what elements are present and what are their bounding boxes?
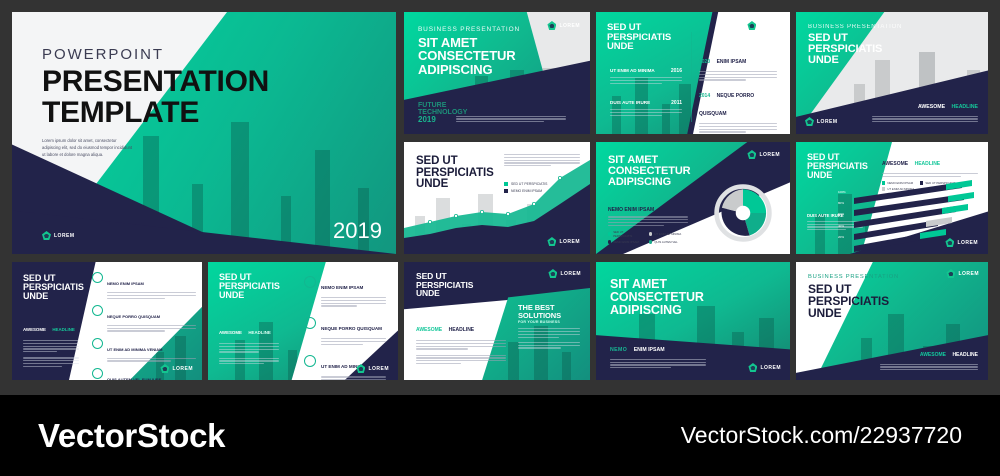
s6-title-3: ADIPISCING <box>608 177 691 188</box>
s6-logo-label: LOREM <box>759 152 780 158</box>
s4-footer-b: HEADLINE <box>951 104 978 110</box>
timeline-item-left-0[interactable]: UT ENIM AD MINIMA 2016 <box>610 68 682 85</box>
s4-eyebrow: BUSINESS PRESENTATION <box>808 24 902 30</box>
hero-body: Lorem ipsum dolor sit amet, consectetur … <box>42 137 134 158</box>
legend-label-3: QUIS AUTEM VEL <box>654 240 677 244</box>
s7-bar-labels: 100% 80% 60% 40% 20% <box>838 190 846 239</box>
pentagon-logo-icon <box>547 237 556 246</box>
legend-swatch-icon <box>608 240 611 243</box>
s12-logo[interactable]: LOREM <box>946 269 979 278</box>
s4-footer: AWESOME HEADLINE <box>872 95 978 124</box>
pentagon-logo-icon <box>946 269 955 278</box>
hero-year: 2019 <box>333 218 382 244</box>
s8-item-label-3: QUIS AUTEM VEL EUM IURE <box>107 377 161 380</box>
slide-hero[interactable]: POWERPOINT PRESENTATION TEMPLATE Lorem i… <box>12 12 396 254</box>
s10-panel: THE BEST SOLUTIONS FOR YOUR BUSINESS <box>518 304 580 350</box>
pentagon-logo-icon <box>747 150 756 159</box>
s6-logo[interactable]: LOREM <box>747 150 780 159</box>
s12-text: BUSINESS PRESENTATION SED UT PERSPICIATI… <box>808 274 899 320</box>
s5-logo[interactable]: LOREM <box>547 237 580 246</box>
pentagon-logo-icon <box>547 21 556 30</box>
s11-title: SIT AMET CONSECTETUR ADIPISCING <box>610 278 704 316</box>
slide-timeline[interactable]: SED UT PERSPICIATIS UNDE UT ENIM AD MINI… <box>596 12 790 134</box>
s12-footer: AWESOME HEADLINE <box>880 343 978 372</box>
s9-headline-b: HEADLINE <box>248 330 270 335</box>
timeline-left-1-year: 2011 <box>671 100 682 106</box>
s8-title-3: UNDE <box>23 292 84 301</box>
s4-footer-a: AWESOME <box>918 104 945 110</box>
watermark-footer: VectorStock VectorStock.com/22937720 <box>0 395 1000 476</box>
s5-legend: SED UT PERSPICIATIS NEMO ENIM IPSAM <box>504 182 580 193</box>
legend-label-1: UT ENIM AD MINIMA <box>654 232 681 236</box>
s11-title-2: CONSECTETUR <box>610 291 704 304</box>
hero-title-line2: TEMPLATE <box>42 98 282 129</box>
s2-eyebrow: BUSINESS PRESENTATION <box>418 26 520 33</box>
s10-panel-sub: FOR YOUR BUSINESS <box>518 320 580 324</box>
slide-best-solutions[interactable]: SED UT PERSPICIATIS UNDE AWESOME HEADLIN… <box>404 262 590 380</box>
hero-eyebrow: POWERPOINT <box>42 46 282 63</box>
slide-area-chart[interactable]: SED UT PERSPICIATIS UNDE SED UT PERSPICI… <box>404 142 590 254</box>
s12-footer-b: HEADLINE <box>952 352 978 358</box>
slide-board: POWERPOINT PRESENTATION TEMPLATE Lorem i… <box>0 0 1000 395</box>
slide-bar-chart[interactable]: SED UT PERSPICIATIS UNDE DUIS AUTE IRURE… <box>796 142 988 254</box>
s11-logo-label: LOREM <box>760 365 781 371</box>
timeline-right-0-year: 2020 <box>699 59 710 65</box>
legend-label-0: SED UT PERSPICIATIS <box>613 230 643 238</box>
s9-headline-block: AWESOME HEADLINE <box>219 321 279 366</box>
slide-business-presentation-1[interactable]: BUSINESS PRESENTATION SIT AMET CONSECTET… <box>404 12 590 134</box>
s2-footer-body <box>456 116 566 124</box>
s9-item-label-0: NEMO ENIM IPSAM <box>321 285 363 290</box>
s5-title-1: SED UT <box>416 156 494 168</box>
bar-label-2: 60% <box>838 212 846 216</box>
hero-logo-label: LOREM <box>54 233 75 239</box>
circle-icon <box>304 317 316 329</box>
legend-item-0: SED UT PERSPICIATIS <box>608 230 643 238</box>
s11-logo[interactable]: LOREM <box>748 363 781 372</box>
s9-logo-label: LOREM <box>368 366 389 372</box>
list-item[interactable]: NEQUE PORRO QUISQUAM <box>304 317 386 346</box>
s6-title: SIT AMET CONSECTETUR ADIPISCING <box>608 155 691 189</box>
timeline-axis <box>691 32 692 122</box>
s10-title-3: UNDE <box>416 289 473 298</box>
s10-logo[interactable]: LOREM <box>548 269 581 278</box>
s9-logo[interactable]: LOREM <box>356 364 389 373</box>
s3-title: SED UT PERSPICIATIS UNDE <box>607 23 671 52</box>
s11-footer: NEMO ENIM IPSAM <box>610 338 706 370</box>
bar-label-0: 100% <box>838 190 846 194</box>
s11-footer-b: ENIM IPSAM <box>634 347 665 353</box>
pentagon-logo-icon <box>548 269 557 278</box>
timeline-left-1-label: DUIS AUTE IRURE <box>610 100 650 105</box>
slide-dark-list[interactable]: SED UT PERSPICIATIS UNDE AWESOME HEADLIN… <box>12 262 202 380</box>
bar-label-4: 20% <box>838 235 846 239</box>
legend-item-1: UT ENIM AD MINIMA <box>649 230 684 238</box>
s12-logo-label: LOREM <box>958 271 979 277</box>
hero-logo[interactable]: LOREM <box>42 231 75 240</box>
legend-item-1: NEMO ENIM IPSAM <box>504 189 580 193</box>
s9-headline-a: AWESOME <box>219 330 242 335</box>
pentagon-logo-icon <box>160 364 169 373</box>
slide-sit-amet-green[interactable]: SIT AMET CONSECTETUR ADIPISCING NEMO ENI… <box>596 262 790 380</box>
s5-logo-label: LOREM <box>559 239 580 245</box>
s10-body: AWESOME HEADLINE <box>416 318 506 366</box>
s3-logo-label: LOREM <box>759 23 780 29</box>
check-circle-icon <box>92 305 103 316</box>
s8-headline-b: HEADLINE <box>52 327 74 332</box>
s7-logo[interactable]: LOREM <box>945 238 978 247</box>
s6-legend: SED UT PERSPICIATIS UT ENIM AD MINIMA NE… <box>608 230 688 244</box>
s10-headline-b: HEADLINE <box>449 327 475 333</box>
s6-pie <box>710 180 776 246</box>
check-circle-icon <box>92 272 103 283</box>
s8-item-label-1: NEQUE PORRO QUISQUAM <box>107 314 160 319</box>
s12-footer-a: AWESOME <box>920 352 946 358</box>
s5-title: SED UT PERSPICIATIS UNDE <box>416 156 494 191</box>
s12-eyebrow: BUSINESS PRESENTATION <box>808 274 899 280</box>
s10-logo-label: LOREM <box>560 271 581 277</box>
legend-label-2: NEMO ENIM IPSAM <box>613 240 639 244</box>
vectorstock-brand: VectorStock <box>38 417 225 455</box>
s2-title-1: SIT AMET <box>418 36 520 49</box>
slide-three-item-list[interactable]: SED UT PERSPICIATIS UNDE AWESOME HEADLIN… <box>208 262 398 380</box>
screenshot-root: POWERPOINT PRESENTATION TEMPLATE Lorem i… <box>0 0 1000 476</box>
s4-logo[interactable]: LOREM <box>805 117 838 126</box>
s2-text: BUSINESS PRESENTATION SIT AMET CONSECTET… <box>418 26 520 76</box>
s2-logo[interactable]: LOREM <box>547 21 580 30</box>
list-item[interactable]: UT ENIM AD MINIMA VENIAM <box>92 338 196 364</box>
legend-swatch-icon <box>504 182 508 186</box>
s4-logo-label: LOREM <box>817 119 838 125</box>
pentagon-logo-icon <box>748 363 757 372</box>
s9-item-label-1: NEQUE PORRO QUISQUAM <box>321 326 382 331</box>
legend-label-1: NEMO ENIM IPSAM <box>511 189 542 193</box>
timeline-item-right-0[interactable]: 2020 ENIM IPSAM <box>699 50 777 82</box>
legend-item-3: QUIS AUTEM VEL <box>649 240 684 244</box>
timeline-right-1-year: 2014 <box>699 93 710 99</box>
legend-label-0: SED UT PERSPICIATIS <box>511 182 547 186</box>
s4-title-3: UNDE <box>808 55 902 66</box>
s6-section: NEMO ENIM IPSAM SED UT PERSPICIATIS UT E… <box>608 207 688 244</box>
s7-logo-label: LOREM <box>957 240 978 246</box>
hero-text-block: POWERPOINT PRESENTATION TEMPLATE Lorem i… <box>42 46 282 159</box>
s8-headline-block: AWESOME HEADLINE <box>23 318 79 368</box>
s10-panel-title-2: SOLUTIONS <box>518 312 580 320</box>
s3-title-3: UNDE <box>607 42 671 52</box>
s9-title: SED UT PERSPICIATIS UNDE <box>219 273 280 301</box>
legend-item-2: NEMO ENIM IPSAM <box>608 240 643 244</box>
s9-title-3: UNDE <box>219 291 280 300</box>
s4-text: BUSINESS PRESENTATION SED UT PERSPICIATI… <box>808 24 902 67</box>
legend-swatch-icon <box>649 232 652 235</box>
s3-logo[interactable]: LOREM <box>747 21 780 30</box>
circle-icon <box>304 355 316 367</box>
pentagon-logo-icon <box>356 364 365 373</box>
legend-item-0: SED UT PERSPICIATIS <box>504 182 580 186</box>
s10-headline-a: AWESOME <box>416 327 442 333</box>
s8-item-label-2: UT ENIM AD MINIMA VENIAM <box>107 347 162 352</box>
s2-title-2: CONSECTETUR <box>418 49 520 62</box>
list-item[interactable]: NEMO ENIM IPSAM <box>92 272 196 300</box>
circle-icon <box>304 276 316 288</box>
bar-label-3: 40% <box>838 224 846 228</box>
s12-title-3: UNDE <box>808 307 899 319</box>
legend-swatch-icon <box>504 189 508 193</box>
s5-body <box>504 154 580 168</box>
s8-headline-a: AWESOME <box>23 327 46 332</box>
s8-logo-label: LOREM <box>172 366 193 372</box>
slide-business-presentation-3[interactable]: BUSINESS PRESENTATION SED UT PERSPICIATI… <box>796 262 988 380</box>
s2-logo-label: LOREM <box>559 23 580 29</box>
timeline-left-0-year: 2016 <box>671 68 682 74</box>
pentagon-logo-icon <box>42 231 51 240</box>
s11-footer-a: NEMO <box>610 347 627 353</box>
s8-logo[interactable]: LOREM <box>160 364 193 373</box>
s10-title: SED UT PERSPICIATIS UNDE <box>416 272 473 298</box>
s2-footer-title-1: FUTURE <box>418 102 467 109</box>
list-item[interactable]: NEQUE PORRO QUISQUAM <box>92 305 196 333</box>
timeline-left-0-label: UT ENIM AD MINIMA <box>610 68 655 73</box>
timeline-right-0-label: ENIM IPSAM <box>717 59 747 65</box>
vectorstock-url: VectorStock.com/22937720 <box>681 422 962 449</box>
legend-swatch-icon <box>649 240 652 243</box>
pentagon-logo-icon <box>945 238 954 247</box>
check-circle-icon <box>92 338 103 349</box>
slide-pie-chart[interactable]: SIT AMET CONSECTETUR ADIPISCING NEMO ENI… <box>596 142 790 254</box>
s8-item-label-0: NEMO ENIM IPSAM <box>107 281 144 286</box>
s2-title-3: ADIPISCING <box>418 63 520 76</box>
list-item[interactable]: NEMO ENIM IPSAM <box>304 276 386 308</box>
hero-title-line1: PRESENTATION <box>42 67 282 98</box>
bar-label-1: 80% <box>838 201 846 205</box>
pentagon-logo-icon <box>747 21 756 30</box>
s11-title-3: ADIPISCING <box>610 304 704 317</box>
legend-swatch-icon <box>608 232 611 235</box>
s5-title-3: UNDE <box>416 179 494 191</box>
timeline-item-right-1[interactable]: 2014 NEQUE PORRO QUISQUAM <box>699 84 777 134</box>
s11-title-1: SIT AMET <box>610 278 704 291</box>
timeline-item-left-1[interactable]: DUIS AUTE IRURE 2011 <box>610 100 682 117</box>
check-circle-icon <box>92 368 103 379</box>
slide-business-presentation-2[interactable]: BUSINESS PRESENTATION SED UT PERSPICIATI… <box>796 12 988 134</box>
pentagon-logo-icon <box>805 117 814 126</box>
s6-section-title: NEMO ENIM IPSAM <box>608 207 688 213</box>
s8-title: SED UT PERSPICIATIS UNDE <box>23 274 84 302</box>
